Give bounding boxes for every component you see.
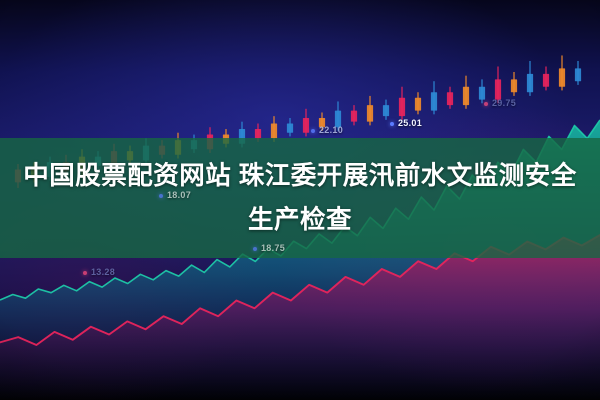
banner-image: 中国股票配资网站 珠江委开展汛前水文监测安全 生产检查 22.1025.0129… (0, 0, 600, 400)
tag-1875: 18.75 (253, 243, 285, 253)
tag-value: 22.10 (319, 125, 343, 135)
tag-value: 13.28 (91, 267, 115, 277)
title-line-1: 中国股票配资网站 珠江委开展汛前水文监测安全 (23, 154, 577, 198)
tag-marker-dot (159, 194, 163, 198)
tag-marker-dot (484, 102, 488, 106)
tag-marker-dot (253, 247, 257, 251)
tag-2210: 22.10 (311, 125, 343, 135)
tag-marker-dot (390, 122, 394, 126)
tag-value: 29.75 (492, 98, 516, 108)
tag-value: 18.07 (167, 190, 191, 200)
page-title: 中国股票配资网站 珠江委开展汛前水文监测安全 生产检查 (0, 138, 600, 258)
tag-1807: 18.07 (159, 190, 191, 200)
tag-value: 25.01 (398, 118, 422, 128)
tag-value: 18.75 (261, 243, 285, 253)
tag-1328: 13.28 (83, 267, 115, 277)
tag-marker-dot (311, 129, 315, 133)
title-line-2: 生产检查 (248, 198, 352, 242)
tag-2975: 29.75 (484, 98, 516, 108)
tag-marker-dot (83, 271, 87, 275)
tag-2501: 25.01 (390, 118, 422, 128)
